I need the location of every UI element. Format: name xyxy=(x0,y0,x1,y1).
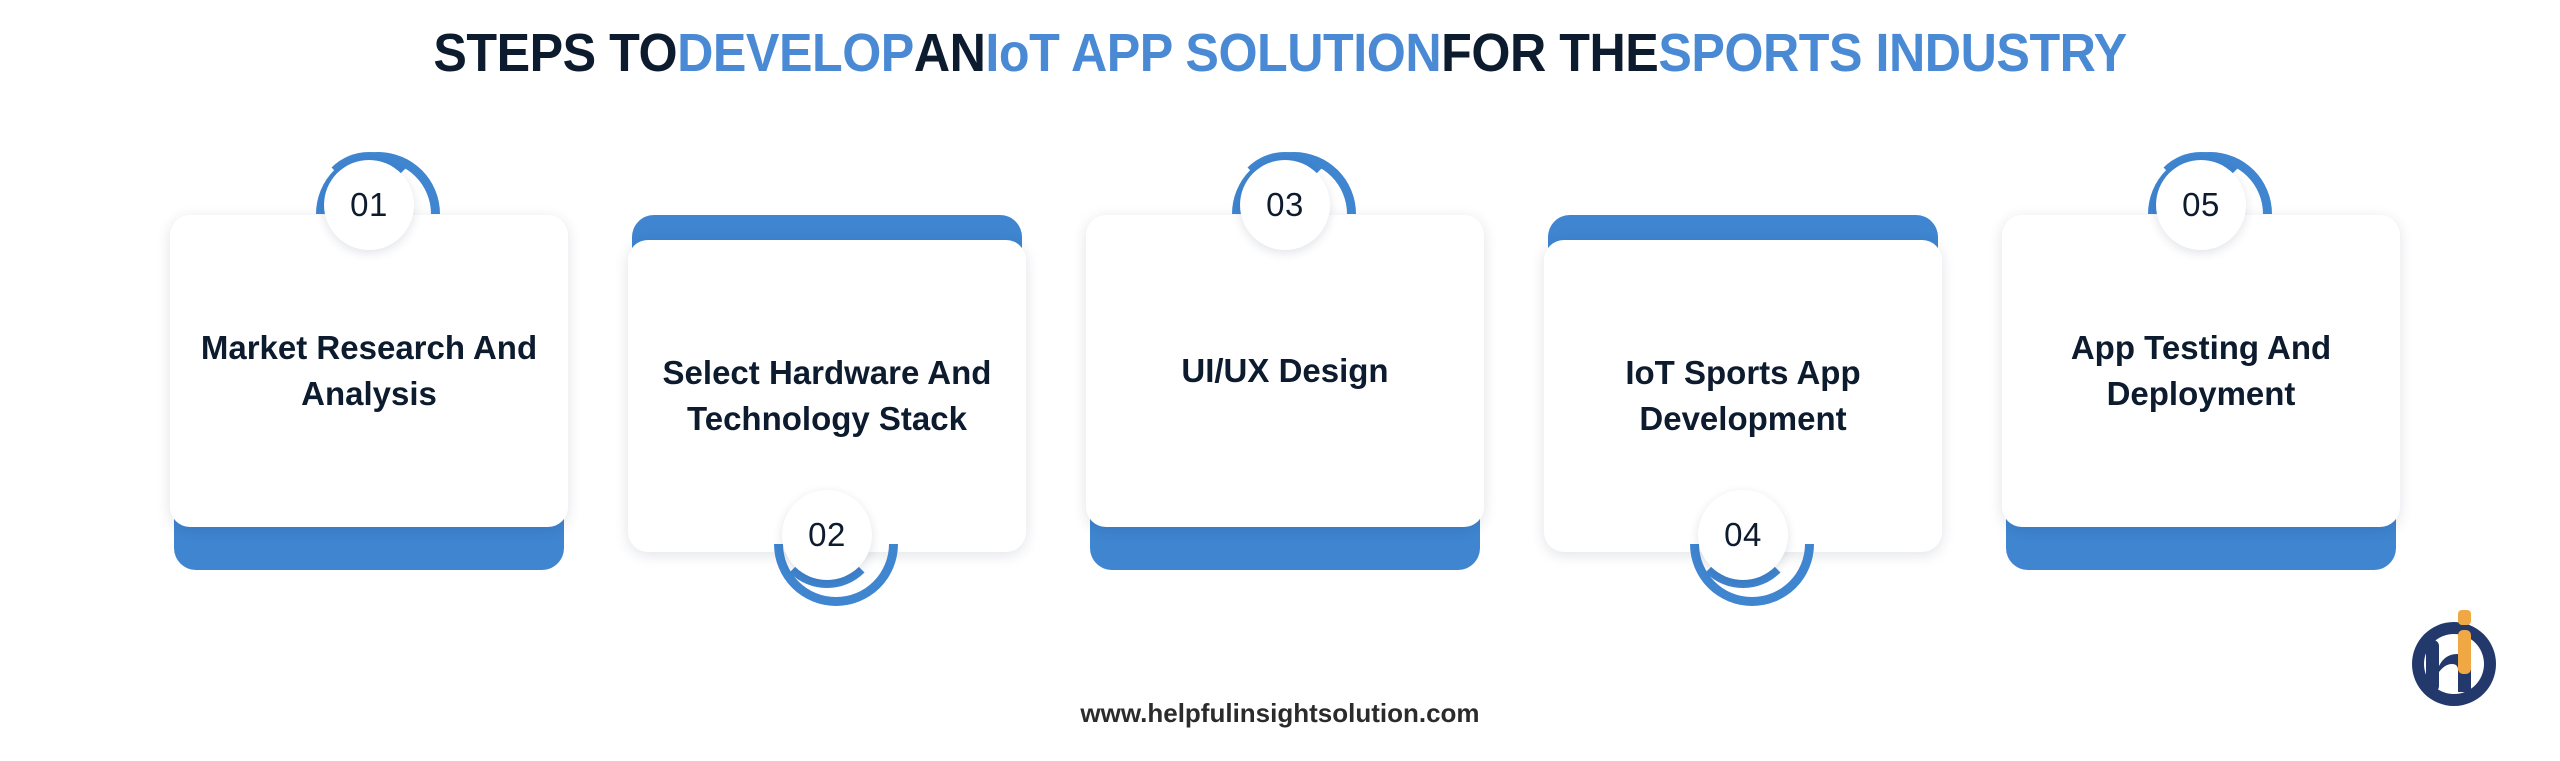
step-label-03: UI/UX Design xyxy=(1181,348,1388,394)
step-label-02: Select Hardware And Technology Stack xyxy=(652,350,1002,441)
steps-row: Market Research And Analysis 01 Select H… xyxy=(170,170,2396,570)
step-badge-01: 01 xyxy=(316,152,422,258)
step-number-03: 03 xyxy=(1266,186,1304,224)
step-badge-disc-03: 03 xyxy=(1240,160,1330,250)
step-number-04: 04 xyxy=(1724,516,1762,554)
title-segment-4: IoT APP SOLUTION xyxy=(985,26,1441,80)
title-segment-5: FOR THE xyxy=(1441,26,1658,80)
step-card-03[interactable]: UI/UX Design 03 xyxy=(1086,170,1484,570)
step-number-05: 05 xyxy=(2182,186,2220,224)
logo-icon xyxy=(2390,600,2518,728)
step-badge-disc-02: 02 xyxy=(782,490,872,580)
step-badge-05: 05 xyxy=(2148,152,2254,258)
step-card-05[interactable]: App Testing And Deployment 05 xyxy=(2002,170,2400,570)
step-panel-01: Market Research And Analysis xyxy=(170,215,568,527)
title-segment-1: STEPS TO xyxy=(433,26,677,80)
step-badge-disc-04: 04 xyxy=(1698,490,1788,580)
footer-website-url[interactable]: www.helpfulinsightsolution.com xyxy=(0,698,2560,729)
step-card-02[interactable]: Select Hardware And Technology Stack 02 xyxy=(628,170,1026,570)
step-label-04: IoT Sports App Development xyxy=(1568,350,1918,441)
title-segment-6: SPORTS INDUSTRY xyxy=(1658,26,2126,80)
step-badge-disc-01: 01 xyxy=(324,160,414,250)
step-card-01[interactable]: Market Research And Analysis 01 xyxy=(170,170,568,570)
step-badge-04: 04 xyxy=(1690,482,1796,588)
step-card-04[interactable]: IoT Sports App Development 04 xyxy=(1544,170,1942,570)
step-label-05: App Testing And Deployment xyxy=(2026,325,2376,416)
title-segment-2: DEVELOP xyxy=(677,26,914,80)
title-segment-3: AN xyxy=(914,26,986,80)
step-badge-02: 02 xyxy=(774,482,880,588)
infographic-page: STEPS TO DEVELOP AN IoT APP SOLUTION FOR… xyxy=(0,0,2560,761)
step-badge-03: 03 xyxy=(1232,152,1338,258)
page-title: STEPS TO DEVELOP AN IoT APP SOLUTION FOR… xyxy=(90,26,2471,80)
step-number-02: 02 xyxy=(808,516,846,554)
step-badge-disc-05: 05 xyxy=(2156,160,2246,250)
step-panel-05: App Testing And Deployment xyxy=(2002,215,2400,527)
step-label-01: Market Research And Analysis xyxy=(194,325,544,416)
step-panel-03: UI/UX Design xyxy=(1086,215,1484,527)
step-number-01: 01 xyxy=(350,186,388,224)
company-logo xyxy=(2390,600,2518,728)
